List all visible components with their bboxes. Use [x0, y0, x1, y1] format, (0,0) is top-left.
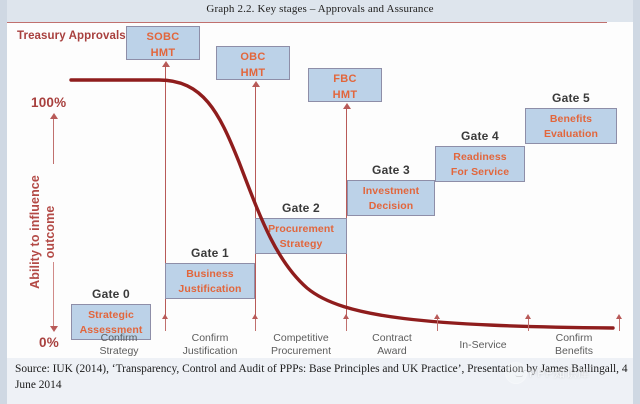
x-tick-5-line1: Confirm — [526, 332, 622, 345]
x-tick-5-line2: Benefits — [526, 345, 622, 358]
x-tick-2-line1: Competitive — [253, 332, 349, 345]
x-tick-3-line1: Contract — [344, 332, 440, 345]
source-band: Source: IUK (2014), ‘Transparency, Contr… — [7, 358, 633, 404]
slide-edge-left — [0, 0, 7, 404]
x-tick-label-0: Confirm Strategy — [71, 332, 167, 358]
graph-title: Graph 2.2. Key stages – Approvals and As… — [7, 3, 633, 15]
x-tick-0-line1: Confirm — [71, 332, 167, 345]
x-tick-0-line2: Strategy — [71, 345, 167, 358]
x-tick-4 — [528, 318, 529, 331]
x-tick-1 — [255, 318, 256, 331]
x-tick-label-5: Confirm Benefits — [526, 332, 622, 358]
header-band: Graph 2.2. Key stages – Approvals and As… — [7, 0, 633, 22]
x-tick-0 — [165, 318, 166, 331]
x-tick-3-line2: Award — [344, 345, 440, 358]
x-tick-2-line2: Procurement — [253, 345, 349, 358]
slide-edge-right — [633, 0, 640, 404]
x-tick-4-line1: In-Service — [435, 339, 531, 352]
x-tick-1-line2: Justification — [162, 345, 258, 358]
x-tick-5 — [619, 318, 620, 331]
influence-curve — [7, 22, 633, 358]
chart-canvas: Treasury Approvals SOBC HMT OBC HMT FBC … — [7, 22, 633, 358]
x-tick-3 — [437, 318, 438, 331]
x-tick-label-3: Contract Award — [344, 332, 440, 358]
x-tick-label-1: Confirm Justification — [162, 332, 258, 358]
x-tick-1-line1: Confirm — [162, 332, 258, 345]
x-tick-label-2: Competitive Procurement — [253, 332, 349, 358]
x-tick-label-4: In-Service — [435, 339, 531, 352]
source-citation: Source: IUK (2014), ‘Transparency, Contr… — [15, 361, 629, 393]
slide-root: Graph 2.2. Key stages – Approvals and As… — [0, 0, 640, 404]
x-tick-2 — [346, 318, 347, 331]
